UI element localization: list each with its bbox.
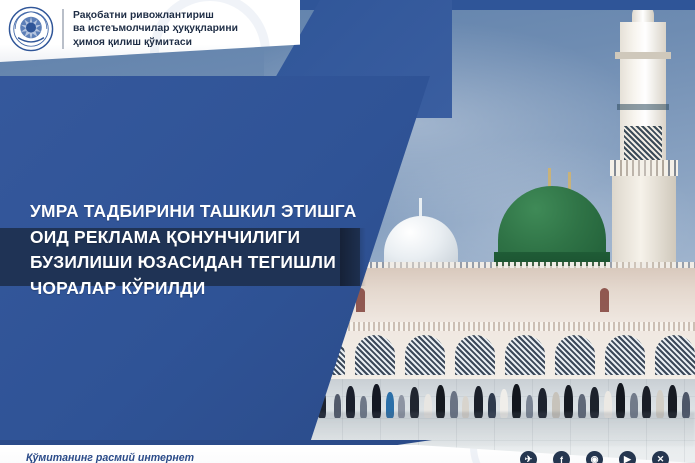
footer-accent-bar: [0, 440, 432, 445]
facade-niche: [600, 288, 609, 312]
headline-line-3: БУЗИЛИШИ ЮЗАСИДАН ТЕГИШЛИ: [30, 250, 370, 276]
social-links[interactable]: ✈ f ◉ ▶ ✕: [520, 451, 669, 463]
uzbekistan-state-emblem-icon: [8, 6, 54, 52]
green-dome-finial-second: [568, 172, 571, 190]
news-banner: Рақобатни ривожлантириш ва истеъмолчилар…: [0, 0, 695, 463]
facebook-icon[interactable]: f: [553, 451, 570, 463]
telegram-icon[interactable]: ✈: [520, 451, 537, 463]
headline-line-1: УМРА ТАДБИРИНИ ТАШКИЛ ЭТИШГА: [30, 199, 370, 225]
organization-line-3: ҳимоя қилиш қўмитаси: [73, 36, 238, 49]
minaret-balcony: [610, 160, 678, 176]
minaret-lattice: [624, 126, 662, 160]
instagram-icon[interactable]: ◉: [586, 451, 603, 463]
headline: УМРА ТАДБИРИНИ ТАШКИЛ ЭТИШГА ОИД РЕКЛАМА…: [30, 199, 370, 301]
organization-line-2: ва истеъмолчилар ҳуқуқларини: [73, 22, 238, 35]
white-dome-finial: [419, 198, 422, 218]
header-identity: Рақобатни ривожлантириш ва истеъмолчилар…: [0, 0, 300, 58]
minaret-ring-lower: [617, 104, 669, 110]
youtube-icon[interactable]: ▶: [619, 451, 636, 463]
headline-line-4: ЧОРАЛАР КЎРИЛДИ: [30, 276, 370, 302]
minaret-ring-upper: [615, 52, 671, 59]
twitter-icon[interactable]: ✕: [652, 451, 669, 463]
organization-line-1: Рақобатни ривожлантириш: [73, 9, 238, 22]
organization-name: Рақобатни ривожлантириш ва истеъмолчилар…: [73, 9, 238, 49]
header-divider: [62, 9, 64, 49]
footer-site-text: Қўмитанинг расмий интернет: [26, 452, 194, 463]
headline-line-2: ОИД РЕКЛАМА ҚОНУНЧИЛИГИ: [30, 225, 370, 251]
